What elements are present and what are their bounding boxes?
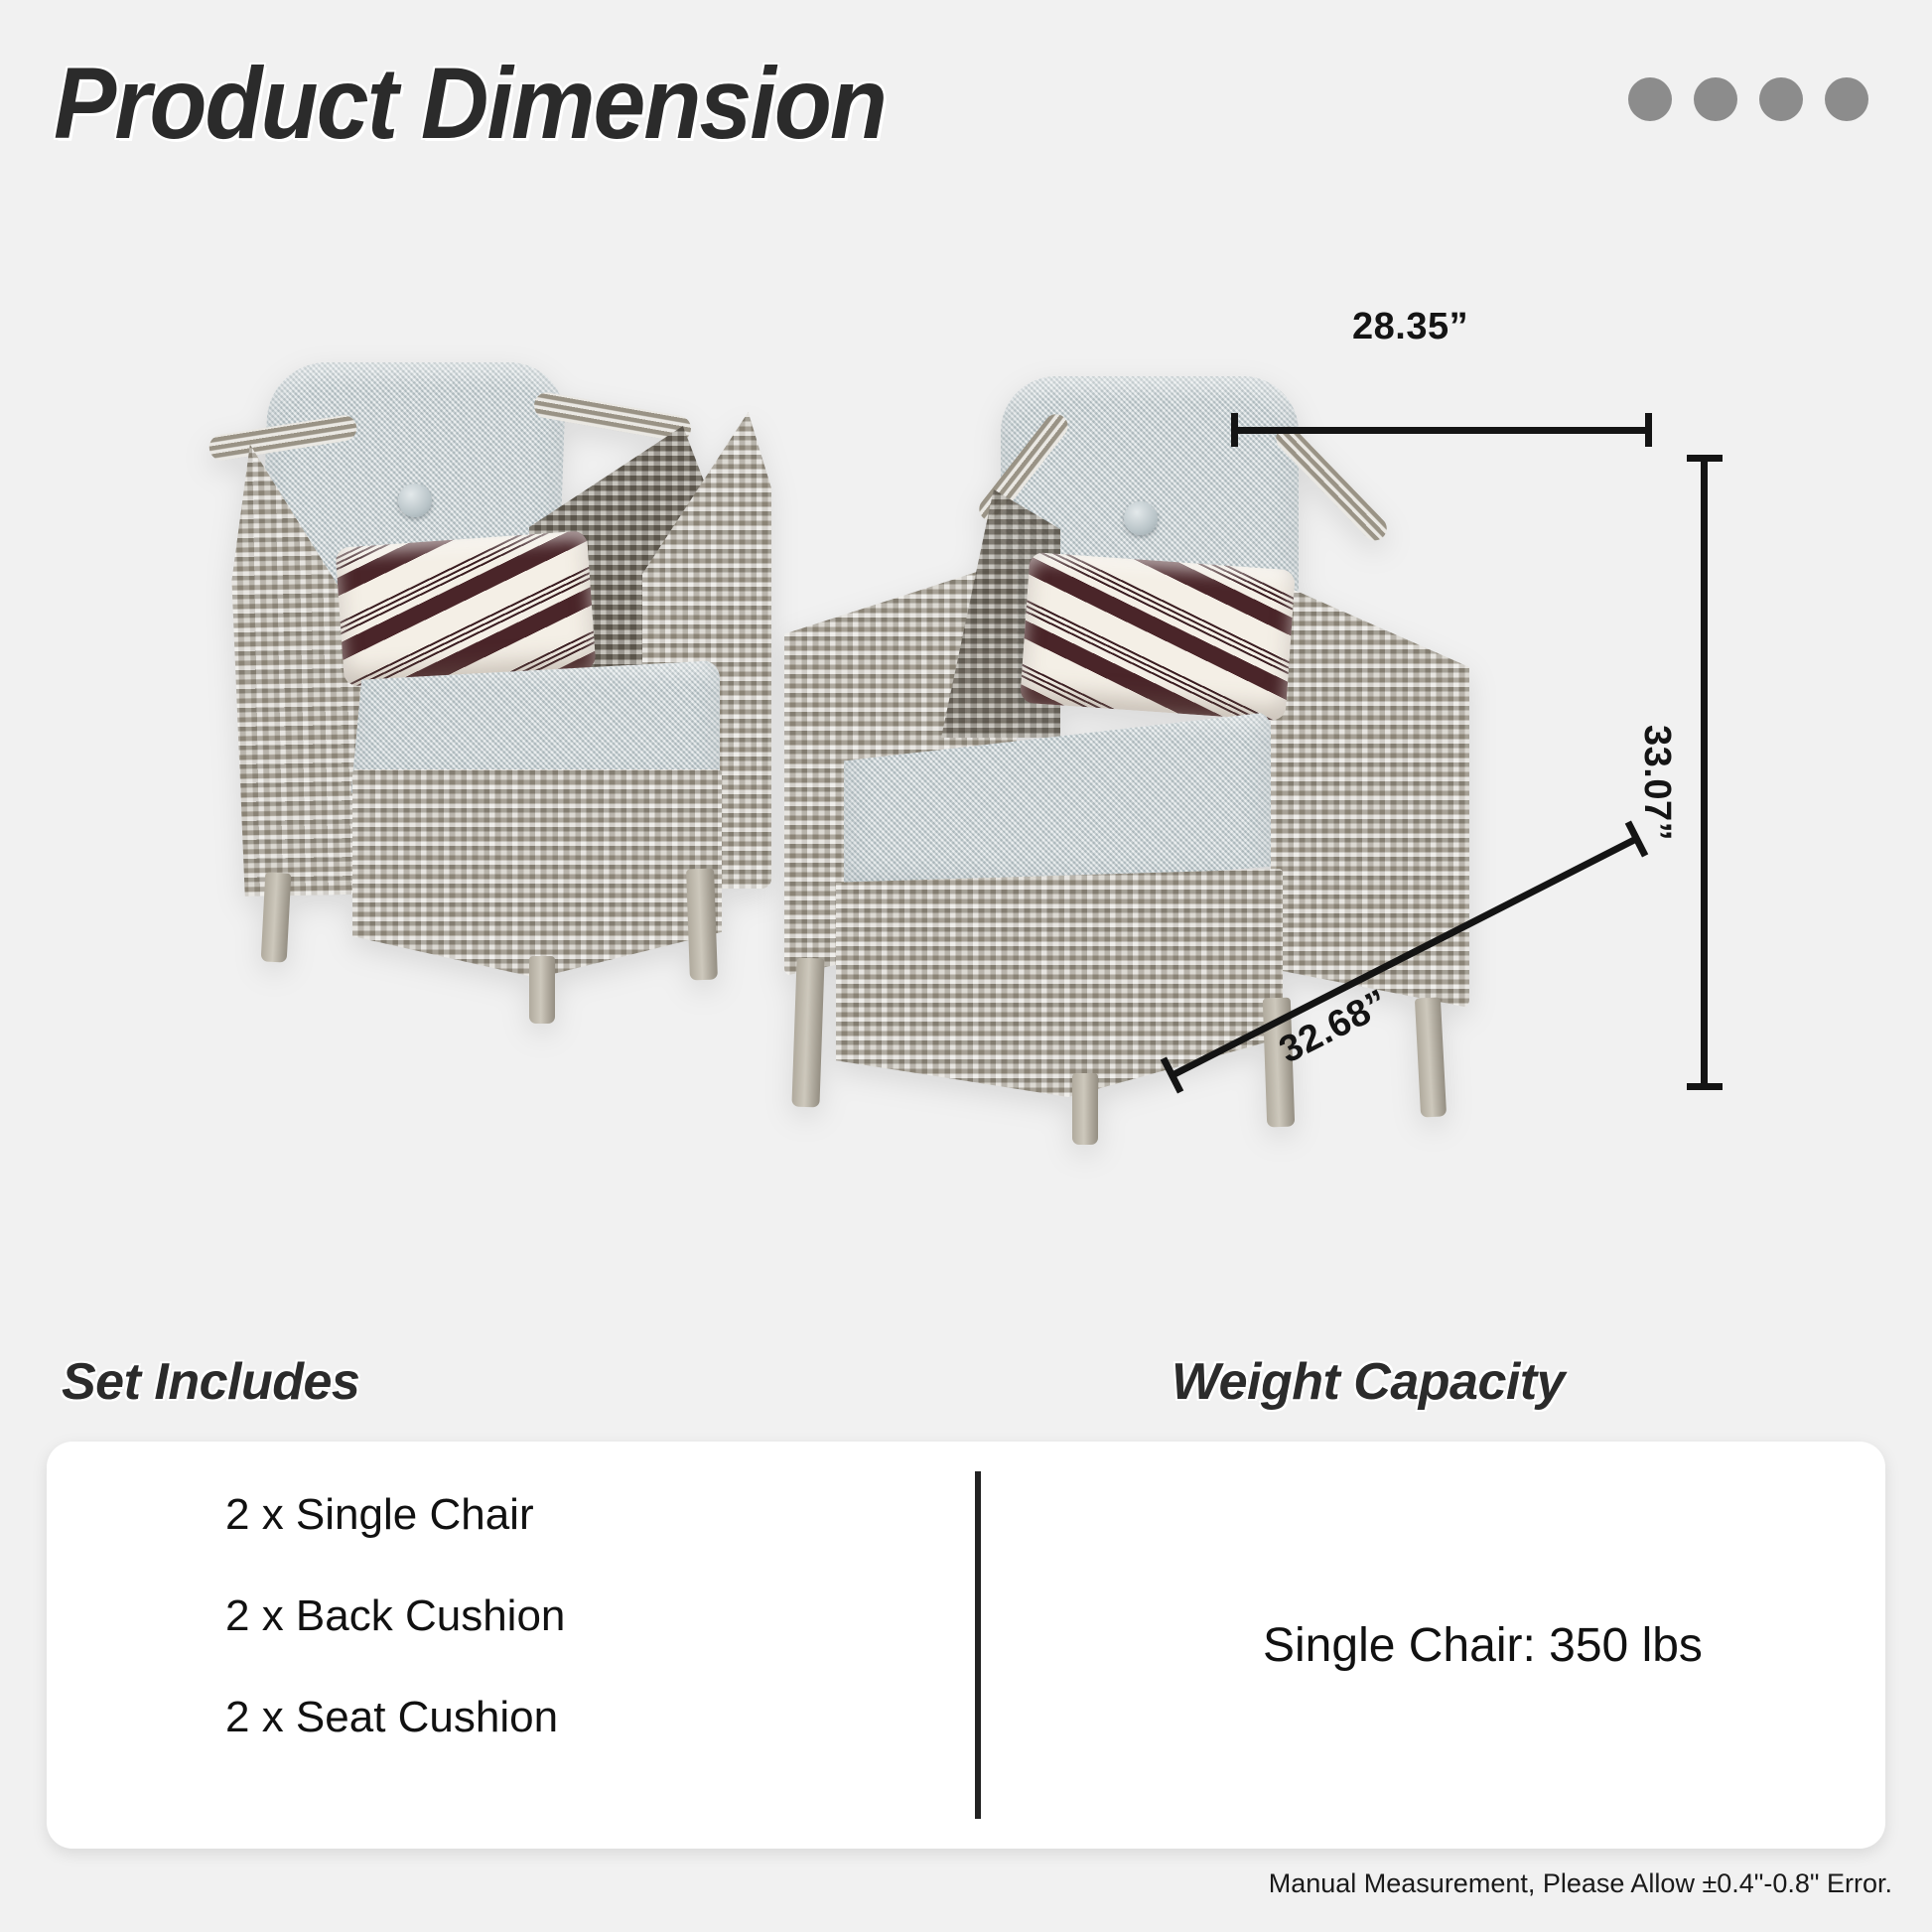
- dot-2-icon: [1694, 77, 1737, 121]
- dot-3-icon: [1759, 77, 1803, 121]
- list-item: 2 x Single Chair: [225, 1493, 565, 1537]
- left-leg-front-right: [686, 869, 718, 981]
- weight-capacity-value: Single Chair: 350 lbs: [1263, 1618, 1703, 1673]
- right-chair: [774, 362, 1489, 1176]
- set-includes-list: 2 x Single Chair 2 x Back Cushion 2 x Se…: [225, 1493, 565, 1797]
- info-card: 2 x Single Chair 2 x Back Cushion 2 x Se…: [47, 1442, 1885, 1849]
- width-line: [1231, 427, 1652, 434]
- measurement-disclaimer: Manual Measurement, Please Allow ±0.4"-0…: [1269, 1868, 1892, 1899]
- right-leg-back-right: [1415, 997, 1447, 1117]
- right-tuft-button: [1124, 501, 1158, 535]
- height-cap-bottom: [1687, 1083, 1723, 1090]
- width-cap-left: [1231, 413, 1238, 447]
- right-front-base-weave: [836, 869, 1283, 1097]
- left-accent-pillow: [335, 530, 596, 686]
- height-label: 33.07”: [1635, 725, 1678, 841]
- right-accent-pillow: [1020, 552, 1296, 721]
- list-item: 2 x Seat Cushion: [225, 1696, 565, 1739]
- left-leg-center: [529, 956, 555, 1024]
- right-leg-center: [1072, 1073, 1098, 1145]
- progress-dots: [1628, 77, 1868, 121]
- header: Product Dimension: [0, 0, 1932, 189]
- list-item: 2 x Back Cushion: [225, 1594, 565, 1638]
- bottom-section: Set Includes Weight Capacity 2 x Single …: [0, 1301, 1932, 1932]
- width-cap-right: [1645, 413, 1652, 447]
- height-cap-top: [1687, 455, 1723, 462]
- right-leg-front-left: [791, 958, 824, 1108]
- dot-4-icon: [1825, 77, 1868, 121]
- card-divider: [975, 1471, 981, 1819]
- left-front-base-weave: [352, 769, 722, 978]
- left-leg-front-left: [261, 872, 292, 962]
- weight-capacity-heading: Weight Capacity: [1172, 1352, 1565, 1412]
- left-tuft-button: [398, 483, 432, 517]
- height-line: [1701, 455, 1708, 1090]
- dot-1-icon: [1628, 77, 1672, 121]
- set-includes-heading: Set Includes: [62, 1352, 359, 1412]
- width-label: 28.35”: [1352, 306, 1468, 348]
- page-title: Product Dimension: [54, 46, 886, 162]
- product-illustration: 28.35” 33.07” 32.68”: [0, 189, 1932, 1301]
